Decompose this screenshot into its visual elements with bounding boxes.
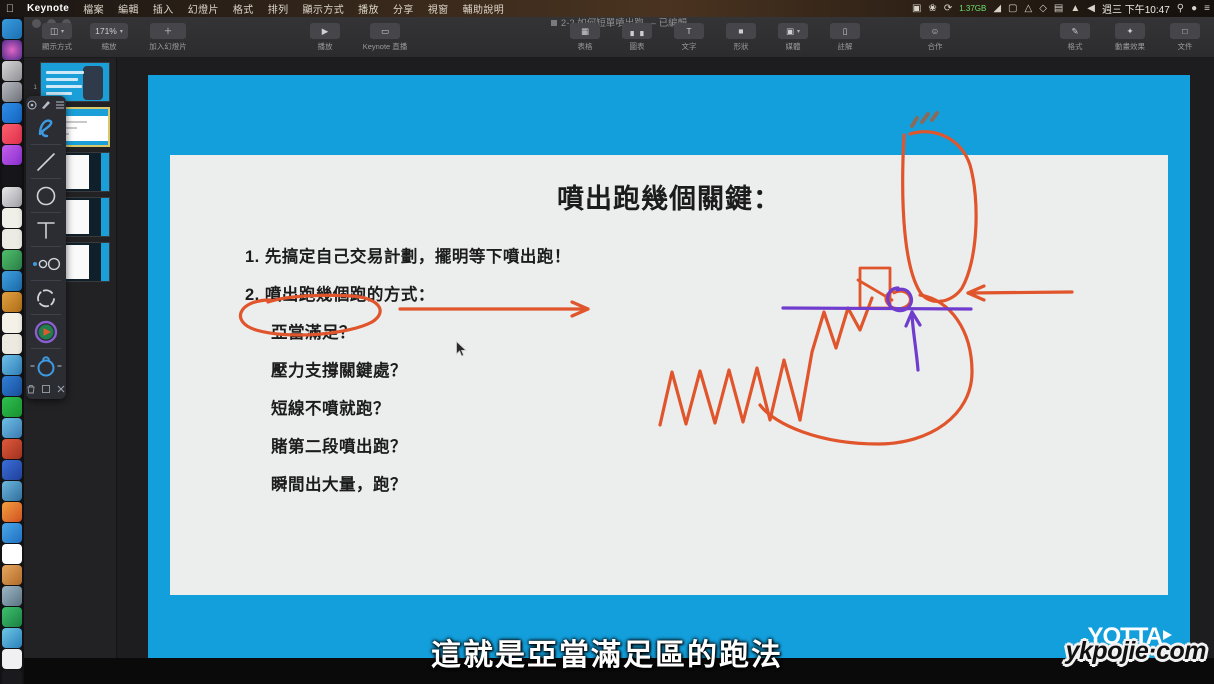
dock-app-photo3[interactable]: [2, 460, 22, 480]
slide-number: 1: [28, 62, 37, 91]
zoom-value: 171%: [95, 26, 117, 36]
dock-app-word[interactable]: [2, 628, 22, 648]
menu-item-insert[interactable]: 插入: [146, 1, 181, 16]
thumbnail-accent: [101, 198, 109, 236]
zoom-value-box[interactable]: 171%▾: [90, 23, 128, 39]
search-icon[interactable]: ⚲: [1177, 4, 1184, 14]
menu-item-help[interactable]: 輔助說明: [456, 1, 512, 16]
dock-app-preview[interactable]: [2, 649, 22, 669]
menu-item-view[interactable]: 顯示方式: [296, 1, 352, 16]
trash-icon[interactable]: [26, 384, 36, 394]
view-label: 顯示方式: [42, 41, 72, 52]
mouse-cursor: [456, 341, 468, 358]
slide-canvas[interactable]: 噴出跑幾個關鍵： 1. 先搞定自己交易計劃，擺明等下噴出跑！ 2. 噴出跑幾個跑…: [117, 58, 1214, 684]
site-watermark: ykpojie·com: [1066, 637, 1206, 666]
display-icon[interactable]: ▣: [912, 4, 921, 14]
media-label: 媒體: [786, 41, 801, 52]
format-icon[interactable]: ✎: [1060, 23, 1090, 39]
chart-button[interactable]: ▖▗ 圖表: [616, 23, 658, 52]
shape-icon[interactable]: ■: [726, 23, 756, 39]
dock-app-chrome[interactable]: [2, 502, 22, 522]
screenshot-icon[interactable]: [41, 384, 51, 394]
dock-app-calendar[interactable]: [2, 544, 22, 564]
memory-usage-label[interactable]: 1.37GB: [959, 5, 986, 13]
shape-label: 形狀: [734, 41, 749, 52]
document-button[interactable]: □ 文件: [1164, 23, 1206, 52]
chart-icon[interactable]: ▖▗: [622, 23, 652, 39]
doc-icon: [551, 20, 557, 26]
thumbnail-bar: [46, 85, 82, 88]
close-icon[interactable]: [56, 384, 66, 394]
thumbnail-bar: [46, 71, 84, 74]
menu-bar:  Keynote 檔案 編輯 插入 幻燈片 格式 排列 顯示方式 播放 分享 …: [0, 0, 1214, 17]
table-button[interactable]: ▦ 表格: [564, 23, 606, 52]
timemachine-icon[interactable]: ⟳: [944, 4, 952, 14]
dock-app-whatsapp[interactable]: [2, 397, 22, 417]
menu-icon[interactable]: [55, 100, 65, 110]
play-label: 播放: [318, 41, 333, 52]
current-slide[interactable]: 噴出跑幾個關鍵： 1. 先搞定自己交易計劃，擺明等下噴出跑！ 2. 噴出跑幾個跑…: [148, 75, 1190, 661]
eject-icon[interactable]: ▲: [1070, 4, 1080, 14]
dock-app-pages[interactable]: [2, 313, 22, 333]
keynote-toolbar: 2-2 如何短單噴出跑 — 已編輯 ◫▾ 顯示方式 171%▾ 縮放 ＋ 加入幻…: [24, 17, 1214, 58]
menu-bar-clock[interactable]: 週三 下午10:47: [1102, 1, 1170, 16]
zoom-button[interactable]: 171%▾ 縮放: [88, 23, 130, 52]
sub-bullet-4: 賭第二段噴出跑？: [271, 433, 571, 457]
chevron-down-icon: ▾: [797, 28, 800, 35]
toolbar-insert-group: ▦ 表格 ▖▗ 圖表 T 文字 ■ 形狀 ▣▾ 媒體: [564, 23, 866, 52]
thumbnail-person: [83, 66, 103, 100]
broadcast-button[interactable]: ▭ Keynote 直播: [356, 23, 414, 52]
slide-title: 噴出跑幾個關鍵：: [170, 177, 1168, 216]
dock-app-terminal[interactable]: [2, 670, 22, 684]
play-icon[interactable]: ▶: [310, 23, 340, 39]
dock-app-excel[interactable]: [2, 607, 22, 627]
view-button[interactable]: ◫▾ 顯示方式: [36, 23, 78, 52]
shape-button[interactable]: ■ 形狀: [720, 23, 762, 52]
document-icon[interactable]: □: [1170, 23, 1200, 39]
menu-item-format[interactable]: 格式: [226, 1, 261, 16]
slide-content-card: 噴出跑幾個關鍵： 1. 先搞定自己交易計劃，擺明等下噴出跑！ 2. 噴出跑幾個跑…: [170, 155, 1168, 595]
screenshot-icon[interactable]: ▢: [1008, 4, 1017, 14]
text-tool[interactable]: [26, 213, 66, 246]
toolbar-left-group: ◫▾ 顯示方式 171%▾ 縮放 ＋ 加入幻燈片: [36, 23, 196, 52]
dock-app-money[interactable]: [2, 250, 22, 270]
broadcast-label: Keynote 直播: [363, 41, 408, 52]
format-label: 格式: [1068, 41, 1083, 52]
chart-label: 圖表: [630, 41, 645, 52]
target-icon[interactable]: [27, 100, 37, 110]
add-slide-label: 加入幻燈片: [149, 41, 187, 52]
document-label: 文件: [1178, 41, 1193, 52]
dock-app-appstore[interactable]: [2, 103, 22, 123]
table-icon[interactable]: ▦: [570, 23, 600, 39]
add-slide-button[interactable]: ＋ 加入幻燈片: [140, 23, 196, 52]
user-icon[interactable]: ●: [1191, 4, 1197, 14]
toolbar-inspector-group: ✎ 格式 ✦ 動畫效果 □ 文件: [1054, 23, 1206, 52]
dock-app-folder1[interactable]: [2, 292, 22, 312]
text-button[interactable]: T 文字: [668, 23, 710, 52]
chevron-down-icon: ▾: [120, 28, 123, 35]
menu-item-edit[interactable]: 編輯: [111, 1, 146, 16]
keynote-window: 2-2 如何短單噴出跑 — 已編輯 ◫▾ 顯示方式 171%▾ 縮放 ＋ 加入幻…: [24, 17, 1214, 684]
dock-app-teal[interactable]: [2, 481, 22, 501]
thumbnail-bar: [46, 78, 78, 81]
dots-tool[interactable]: [26, 247, 66, 280]
comment-button[interactable]: ▯ 註解: [824, 23, 866, 52]
apple-logo-icon[interactable]: : [0, 3, 20, 15]
dock[interactable]: [0, 17, 24, 684]
bluetooth-icon[interactable]: ❀: [928, 4, 936, 14]
collaborate-label: 合作: [928, 41, 943, 52]
volume-icon[interactable]: ◀: [1087, 4, 1095, 14]
video-subtitle: 這就是亞當滿足區的跑法: [0, 630, 1214, 674]
ellipse-tool[interactable]: [26, 179, 66, 212]
zoom-label: 縮放: [102, 41, 117, 52]
broadcast-icon[interactable]: ▭: [370, 23, 400, 39]
dock-app-graph[interactable]: [2, 355, 22, 375]
menu-item-play[interactable]: 播放: [351, 1, 386, 16]
collaborate-button[interactable]: ☺ 合作: [914, 23, 956, 52]
text-label: 文字: [682, 41, 697, 52]
list-icon[interactable]: ≡: [1204, 4, 1210, 14]
chevron-down-icon: ▾: [61, 28, 64, 35]
dock-app-launchpad[interactable]: [2, 61, 22, 81]
dock-app-tv[interactable]: [2, 166, 22, 186]
dropbox-icon[interactable]: ◇: [1039, 4, 1047, 14]
dock-app-mail[interactable]: [2, 565, 22, 585]
dock-app-numbers[interactable]: [2, 334, 22, 354]
annotation-tool-palette[interactable]: [26, 96, 66, 399]
dock-app-music[interactable]: [2, 124, 22, 144]
bullet-item-2: 2. 噴出跑幾個跑的方式：: [245, 281, 571, 305]
format-button[interactable]: ✎ 格式: [1054, 23, 1096, 52]
pen-tip-icon[interactable]: [41, 100, 51, 110]
view-icon[interactable]: ◫▾: [42, 23, 72, 39]
toolbar-play-group: ▶ 播放 ▭ Keynote 直播: [304, 23, 414, 52]
menu-item-keynote[interactable]: Keynote: [20, 3, 76, 14]
menu-item-window[interactable]: 視窗: [421, 1, 456, 16]
animate-button[interactable]: ✦ 動畫效果: [1106, 23, 1154, 52]
text-icon[interactable]: T: [674, 23, 704, 39]
sub-bullet-5: 瞬間出大量，跑？: [271, 471, 571, 495]
palette-footer[interactable]: [26, 382, 66, 396]
screen:  Keynote 檔案 編輯 插入 幻燈片 格式 排列 顯示方式 播放 分享 …: [0, 0, 1214, 684]
clipboard-icon[interactable]: ▤: [1054, 4, 1063, 14]
sub-bullet-3: 短線不噴就跑？: [271, 395, 571, 419]
plus-icon[interactable]: ＋: [150, 23, 186, 39]
thumbnail-accent: [101, 243, 109, 281]
sub-bullet-1: 亞當滿足？: [271, 319, 571, 343]
thumbnail-accent: [101, 153, 109, 191]
play-button[interactable]: ▶ 播放: [304, 23, 346, 52]
dock-app-notes1[interactable]: [2, 208, 22, 228]
dock-app-settings[interactable]: [2, 82, 22, 102]
dock-app-finder[interactable]: [2, 19, 22, 39]
menu-bar-status-area: ▣ ❀ ⟳ 1.37GB ◢ ▢ △ ◇ ▤ ▲ ◀ 週三 下午10:47 ⚲ …: [912, 1, 1214, 16]
dock-app-siri[interactable]: [2, 40, 22, 60]
dock-app-safari[interactable]: [2, 523, 22, 543]
spotlight-tool[interactable]: [26, 349, 66, 382]
dock-app-browser[interactable]: [2, 586, 22, 606]
dock-app-podcasts[interactable]: [2, 145, 22, 165]
toolbar-collab-group: ☺ 合作: [914, 23, 956, 52]
menu-item-file[interactable]: 檔案: [76, 1, 111, 16]
slide-bullet-list: 1. 先搞定自己交易計劃，擺明等下噴出跑！ 2. 噴出跑幾個跑的方式： 亞當滿足…: [245, 243, 571, 509]
animate-label: 動畫效果: [1115, 41, 1145, 52]
collaborate-icon[interactable]: ☺: [920, 23, 950, 39]
sub-bullet-2: 壓力支撐關鍵處？: [271, 357, 571, 381]
menu-item-share[interactable]: 分享: [386, 1, 421, 16]
rotate-tool[interactable]: [26, 281, 66, 314]
scribble-tool[interactable]: [26, 111, 66, 144]
dock-app-safari-alt[interactable]: [2, 187, 22, 207]
menu-item-arrange[interactable]: 排列: [261, 1, 296, 16]
palette-header[interactable]: [26, 99, 66, 111]
dock-app-notes2[interactable]: [2, 229, 22, 249]
comment-label: 註解: [838, 41, 853, 52]
dock-app-keynote[interactable]: [2, 271, 22, 291]
line-tool[interactable]: [26, 145, 66, 178]
animate-icon[interactable]: ✦: [1115, 23, 1145, 39]
graph-icon[interactable]: ◢: [993, 4, 1001, 14]
dock-app-photo2[interactable]: [2, 439, 22, 459]
dock-app-chart[interactable]: [2, 376, 22, 396]
record-tool[interactable]: [26, 315, 66, 348]
menu-item-slide[interactable]: 幻燈片: [181, 1, 226, 16]
thumbnail-bar: [46, 92, 72, 95]
media-icon[interactable]: ▣▾: [778, 23, 808, 39]
wifi-icon[interactable]: △: [1025, 4, 1033, 14]
bullet-item-1: 1. 先搞定自己交易計劃，擺明等下噴出跑！: [245, 243, 571, 267]
media-button[interactable]: ▣▾ 媒體: [772, 23, 814, 52]
dock-app-photo1[interactable]: [2, 418, 22, 438]
comment-icon[interactable]: ▯: [830, 23, 860, 39]
table-label: 表格: [578, 41, 593, 52]
